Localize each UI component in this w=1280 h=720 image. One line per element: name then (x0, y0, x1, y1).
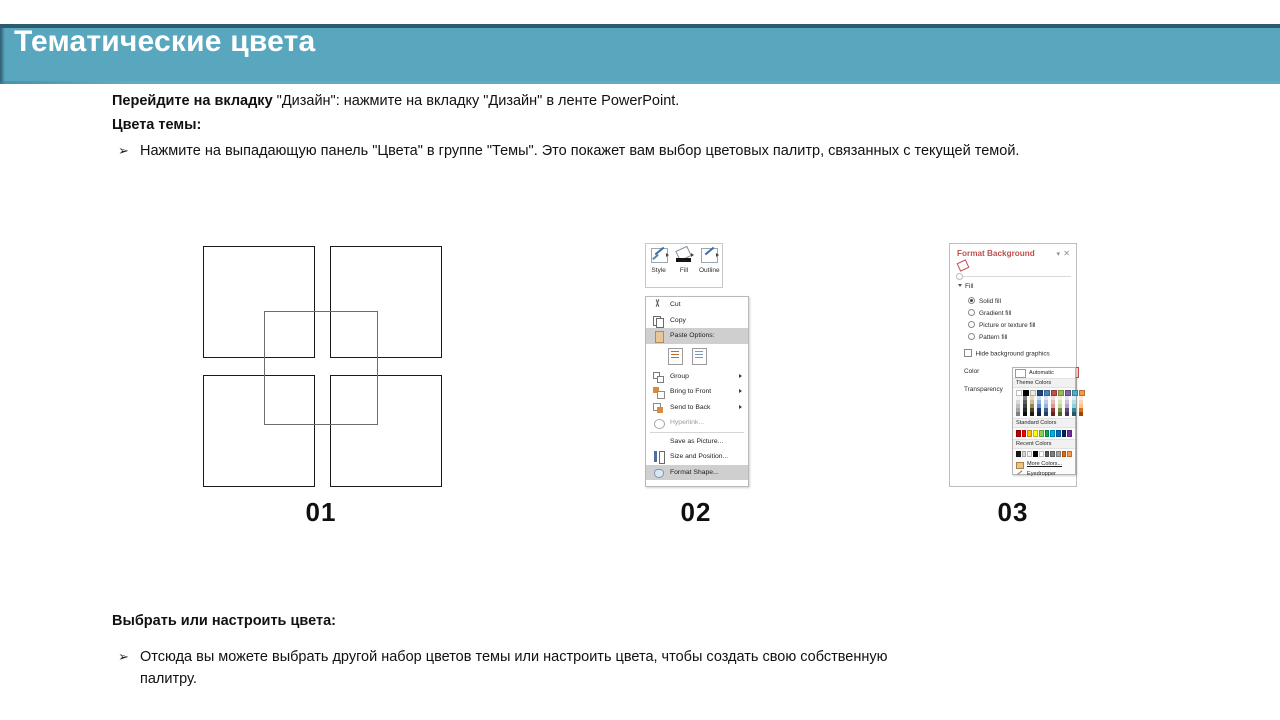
paste-picture-icon[interactable] (692, 348, 707, 365)
format-background-title: Format Background (957, 249, 1035, 258)
fill-bucket-icon (674, 247, 694, 265)
recent-colors-row[interactable] (1013, 449, 1075, 460)
intro-bold: Перейдите на вкладку (112, 93, 273, 109)
theme-color-swatch[interactable] (1051, 412, 1055, 416)
option-solid-fill-label: Solid fill (979, 298, 1001, 305)
theme-colors-subhead: Цвета темы: (112, 114, 1172, 136)
menu-item-paste-options[interactable]: Paste Options: (646, 328, 748, 344)
pane-divider (956, 276, 1071, 277)
mini-toolbar: Style Fill Outline (645, 243, 723, 288)
standard-color-swatch[interactable] (1056, 430, 1061, 437)
standard-color-swatch[interactable] (1022, 430, 1027, 437)
paste-keep-formatting-icon[interactable] (668, 348, 683, 365)
theme-color-column[interactable] (1030, 390, 1036, 416)
theme-color-column[interactable] (1016, 390, 1022, 416)
size-position-icon (652, 451, 664, 462)
shape-style-icon (649, 247, 669, 265)
palette-icon (1016, 461, 1024, 468)
outline-pen-icon (699, 247, 719, 265)
menu-item-save-as-picture-label: Save as Picture... (670, 438, 723, 445)
theme-color-swatch[interactable] (1037, 412, 1041, 416)
fill-section-header[interactable]: Fill (958, 283, 973, 290)
theme-color-column[interactable] (1044, 390, 1050, 416)
standard-color-swatch[interactable] (1027, 430, 1032, 437)
dropdown-automatic[interactable]: Automatic (1013, 368, 1075, 378)
option-solid-fill[interactable]: Solid fill (968, 297, 1001, 305)
mini-toolbar-style-label: Style (647, 267, 671, 275)
scissors-icon (652, 299, 664, 310)
arrow-bullet-icon: ➢ (112, 646, 140, 667)
menu-item-size-and-position-label: Size and Position... (670, 453, 728, 460)
radio-icon (968, 297, 975, 304)
option-picture-fill-label: Picture or texture fill (979, 322, 1035, 329)
eyedropper-label: Eyedropper (1027, 471, 1056, 477)
dropdown-automatic-label: Automatic (1029, 370, 1054, 376)
theme-color-swatch[interactable] (1030, 412, 1034, 416)
recent-color-swatch[interactable] (1039, 451, 1044, 458)
copy-icon (652, 315, 664, 326)
theme-color-column[interactable] (1023, 390, 1029, 416)
menu-item-group-label: Group (670, 373, 689, 380)
minimize-icon[interactable]: ▾ (1056, 250, 1060, 258)
chevron-right-icon (739, 374, 742, 378)
theme-color-swatch[interactable] (1072, 412, 1076, 416)
bottom-text-block: Выбрать или настроить цвета: ➢ Отсюда вы… (112, 610, 1172, 690)
color-dropdown: Automatic Theme Colors Standard Colors R… (1012, 367, 1076, 475)
recent-color-swatch[interactable] (1067, 451, 1072, 458)
figure-02-context-menu: Style Fill Outline Cut Copy Paste Option… (643, 243, 749, 487)
option-pattern-fill-label: Pattern fill (979, 334, 1007, 341)
standard-color-swatch[interactable] (1067, 430, 1072, 437)
chevron-right-icon (739, 405, 742, 409)
hyperlink-icon (652, 417, 664, 428)
standard-colors-row[interactable] (1013, 428, 1075, 439)
transparency-label: Transparency (964, 386, 1003, 393)
theme-color-swatch[interactable] (1079, 412, 1083, 416)
recent-color-swatch[interactable] (1050, 451, 1055, 458)
recent-color-swatch[interactable] (1033, 451, 1038, 458)
mini-toolbar-fill-label: Fill (672, 267, 696, 275)
radio-icon (968, 321, 975, 328)
more-colors-label: More Colors... (1027, 461, 1062, 467)
context-menu: Cut Copy Paste Options: Group Bring to F… (645, 296, 749, 487)
standard-colors-header: Standard Colors (1013, 418, 1075, 428)
recent-color-swatch[interactable] (1056, 451, 1061, 458)
fill-section-label: Fill (965, 283, 973, 290)
menu-item-size-and-position[interactable]: Size and Position... (646, 449, 748, 465)
theme-color-column[interactable] (1065, 390, 1071, 416)
recent-color-swatch[interactable] (1022, 451, 1027, 458)
format-shape-icon (652, 467, 664, 478)
menu-item-send-to-back[interactable]: Send to Back (646, 400, 748, 416)
pane-handle (956, 273, 963, 280)
theme-color-swatch[interactable] (1044, 412, 1048, 416)
theme-color-column[interactable] (1058, 390, 1064, 416)
recent-colors-header: Recent Colors (1013, 439, 1075, 449)
hide-background-graphics-label: Hide background graphics (976, 351, 1050, 358)
recent-color-swatch[interactable] (1045, 451, 1050, 458)
theme-color-swatch[interactable] (1058, 412, 1062, 416)
dropdown-eyedropper[interactable]: Eyedropper (1013, 469, 1075, 479)
intro-rest: "Дизайн": нажмите на вкладку "Дизайн" в … (277, 93, 680, 109)
menu-item-cut-label: Cut (670, 301, 681, 308)
bullet-item-2-text: Отсюда вы можете выбрать другой набор цв… (140, 646, 910, 690)
figure-label-02: 02 (643, 497, 749, 528)
menu-item-hyperlink-label: Hyperlink... (670, 419, 704, 426)
color-label: Color (964, 368, 979, 375)
figure-label-01: 01 (200, 497, 442, 528)
mini-toolbar-style[interactable]: Style (647, 247, 671, 275)
mini-toolbar-outline-label: Outline (697, 267, 721, 275)
option-gradient-fill-label: Gradient fill (979, 310, 1011, 317)
standard-color-swatch[interactable] (1062, 430, 1067, 437)
recent-color-swatch[interactable] (1062, 451, 1067, 458)
chevron-right-icon (739, 389, 742, 393)
bullet-item-1-text: Нажмите на выпадающую панель "Цвета" в г… (140, 140, 1019, 162)
radio-icon (968, 309, 975, 316)
eyedropper-icon (1016, 471, 1024, 478)
clipboard-icon (652, 330, 664, 341)
mini-toolbar-fill[interactable]: Fill (672, 247, 696, 275)
title-band-bottom-edge (0, 81, 1280, 84)
standard-color-swatch[interactable] (1016, 430, 1021, 437)
menu-item-send-to-back-label: Send to Back (670, 404, 710, 411)
automatic-swatch (1015, 369, 1026, 378)
menu-item-bring-to-front[interactable]: Bring to Front (646, 384, 748, 400)
square-center-overlay (264, 311, 378, 425)
page-title: Тематические цвета (14, 25, 315, 59)
figure-01-squares (200, 243, 442, 487)
bullet-item-1: ➢ Нажмите на выпадающую панель "Цвета" в… (112, 140, 1172, 162)
recent-color-swatch[interactable] (1016, 451, 1021, 458)
intro-line: Перейдите на вкладку "Дизайн": нажмите н… (112, 90, 1172, 112)
collapse-triangle-icon (958, 284, 962, 287)
intro-text-block: Перейдите на вкладку "Дизайн": нажмите н… (112, 90, 1172, 162)
theme-color-swatch[interactable] (1065, 412, 1069, 416)
checkbox-hide-background-graphics[interactable]: Hide background graphics (964, 349, 1050, 358)
menu-item-format-shape-label: Format Shape... (670, 469, 719, 476)
top-white-strip (0, 0, 1280, 24)
standard-color-swatch[interactable] (1033, 430, 1038, 437)
arrow-bullet-icon: ➢ (112, 140, 140, 161)
theme-color-column[interactable] (1079, 390, 1085, 416)
choose-colors-subhead: Выбрать или настроить цвета: (112, 610, 1172, 632)
figure-label-03: 03 (949, 497, 1077, 528)
menu-item-format-shape[interactable]: Format Shape... (646, 465, 748, 481)
theme-color-column[interactable] (1051, 390, 1057, 416)
theme-color-swatch[interactable] (1023, 412, 1027, 416)
menu-item-copy[interactable]: Copy (646, 313, 748, 329)
option-picture-or-texture-fill[interactable]: Picture or texture fill (968, 321, 1035, 329)
theme-colors-grid[interactable] (1013, 388, 1075, 416)
theme-colors-header: Theme Colors (1013, 378, 1075, 388)
standard-color-swatch[interactable] (1045, 430, 1050, 437)
dropdown-more-colors[interactable]: More Colors... (1013, 459, 1075, 469)
bring-to-front-icon (652, 386, 664, 397)
option-pattern-fill[interactable]: Pattern fill (968, 333, 1007, 341)
figure-03-format-background-pane: Format Background ▾ ✕ Fill Solid fill Gr… (949, 243, 1077, 487)
paste-options-row (646, 344, 748, 369)
option-gradient-fill[interactable]: Gradient fill (968, 309, 1011, 317)
group-icon (652, 371, 664, 382)
menu-divider (650, 432, 744, 433)
menu-item-cut[interactable]: Cut (646, 297, 748, 313)
menu-item-save-as-picture[interactable]: Save as Picture... (646, 434, 748, 450)
transparency-row: Transparency (964, 386, 1003, 393)
recent-color-swatch[interactable] (1027, 451, 1032, 458)
menu-item-group[interactable]: Group (646, 369, 748, 385)
color-row: Color (964, 368, 979, 375)
send-to-back-icon (652, 402, 664, 413)
bullet-item-2: ➢ Отсюда вы можете выбрать другой набор … (112, 646, 1172, 690)
menu-item-paste-options-label: Paste Options: (670, 332, 715, 339)
checkbox-icon (964, 349, 972, 357)
theme-color-swatch[interactable] (1016, 412, 1020, 416)
menu-item-copy-label: Copy (670, 317, 686, 324)
theme-color-column[interactable] (1037, 390, 1043, 416)
menu-item-bring-to-front-label: Bring to Front (670, 388, 711, 395)
standard-color-swatch[interactable] (1050, 430, 1055, 437)
close-icon[interactable]: ✕ (1063, 249, 1070, 258)
menu-item-hyperlink: Hyperlink... (646, 415, 748, 431)
fill-bucket-icon (958, 260, 969, 270)
mini-toolbar-outline[interactable]: Outline (697, 247, 721, 275)
radio-icon (968, 333, 975, 340)
theme-color-column[interactable] (1072, 390, 1078, 416)
standard-color-swatch[interactable] (1039, 430, 1044, 437)
title-band-left-edge (0, 28, 5, 84)
